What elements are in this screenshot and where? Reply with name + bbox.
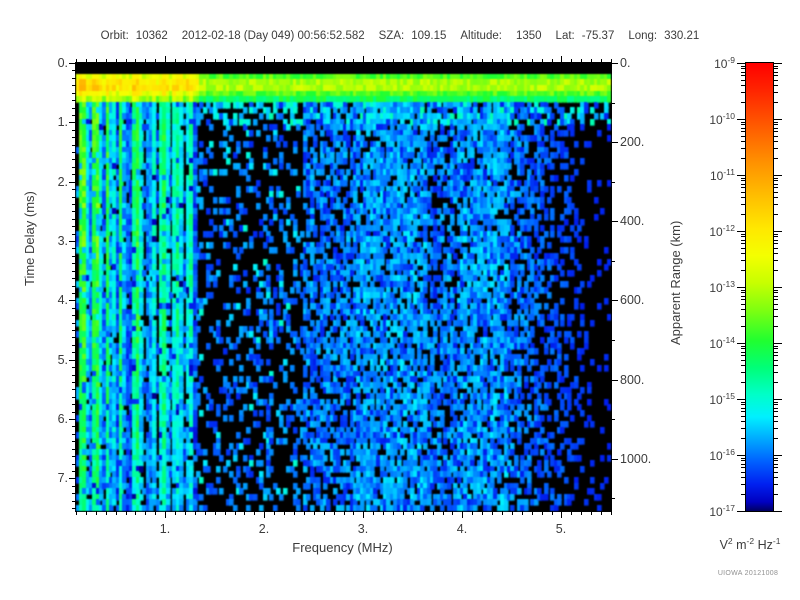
- axis-tick: [443, 511, 444, 515]
- axis-tick: [86, 511, 87, 515]
- altitude-label: Altitude:: [460, 30, 502, 42]
- colorbar-tick: [773, 343, 782, 344]
- colorbar-minor-tick: [741, 477, 746, 478]
- axis-tick: [76, 511, 77, 515]
- colorbar-tick: [773, 175, 782, 176]
- y-axis-title-apparent-range: Apparent Range (km): [668, 221, 683, 345]
- axis-tick: [561, 511, 562, 518]
- colorbar-minor-tick: [741, 66, 746, 67]
- colorbar-tick-exponent: -13: [723, 279, 735, 289]
- colorbar-tick-label: 10-16: [709, 447, 735, 463]
- colorbar-minor-tick: [773, 122, 778, 123]
- axis-tick: [72, 464, 76, 465]
- axis-tick: [72, 159, 76, 160]
- units-hz-exp: -1: [773, 536, 781, 546]
- axis-tick: [72, 434, 76, 435]
- colorbar-tick: [773, 231, 782, 232]
- axis-tick: [72, 471, 76, 472]
- axis-tick-label: 200.: [620, 135, 644, 149]
- colorbar-minor-tick: [741, 360, 746, 361]
- colorbar-minor-tick: [741, 402, 746, 403]
- axis-tick: [155, 511, 156, 515]
- units-m-exp: -2: [747, 536, 755, 546]
- colorbar-minor-tick: [741, 80, 746, 81]
- axis-tick: [72, 137, 76, 138]
- axis-tick: [72, 204, 76, 205]
- axis-tick: [215, 59, 216, 63]
- colorbar-minor-tick: [741, 346, 746, 347]
- axis-tick: [561, 56, 562, 63]
- axis-tick: [72, 219, 76, 220]
- axis-tick-label: 600.: [620, 293, 644, 307]
- colorbar-tick: [773, 455, 782, 456]
- colorbar-tick: [773, 399, 782, 400]
- axis-tick: [72, 382, 76, 383]
- axis-tick: [72, 352, 76, 353]
- axis-tick: [72, 308, 76, 309]
- axis-tick: [482, 59, 483, 63]
- axis-tick: [72, 508, 76, 509]
- axis-tick: [522, 511, 523, 515]
- axis-tick: [304, 511, 305, 515]
- axis-tick: [205, 511, 206, 515]
- axis-tick: [611, 182, 615, 183]
- axis-tick-label: 4.: [58, 293, 68, 307]
- axis-tick: [502, 59, 503, 63]
- axis-tick-label: 2.: [259, 522, 269, 536]
- colorbar-minor-tick: [773, 236, 778, 237]
- axis-tick: [72, 263, 76, 264]
- colorbar-minor-tick: [741, 124, 746, 125]
- colorbar-minor-tick: [741, 416, 746, 417]
- colorbar-minor-tick: [773, 438, 778, 439]
- colorbar-minor-tick: [741, 408, 746, 409]
- colorbar-minor-tick: [773, 124, 778, 125]
- axis-tick: [72, 211, 76, 212]
- axis-tick: [571, 511, 572, 515]
- colorbar-minor-tick: [741, 180, 746, 181]
- colorbar-minor-tick: [773, 467, 778, 468]
- colorbar-minor-tick: [773, 248, 778, 249]
- axis-tick: [72, 337, 76, 338]
- colorbar-minor-tick: [773, 204, 778, 205]
- colorbar-minor-tick: [773, 346, 778, 347]
- colorbar-minor-tick: [773, 458, 778, 459]
- axis-tick: [294, 511, 295, 515]
- colorbar-minor-tick: [741, 458, 746, 459]
- axis-tick: [611, 340, 615, 341]
- colorbar-tick-label: 10-10: [709, 111, 735, 127]
- colorbar: 10-910-1010-1110-1210-1310-1410-1510-161…: [745, 62, 774, 512]
- axis-tick: [72, 85, 76, 86]
- axis-tick: [96, 59, 97, 63]
- axis-tick: [274, 511, 275, 515]
- colorbar-tick-label: 10-13: [709, 279, 735, 295]
- axis-tick-label: 1.: [160, 522, 170, 536]
- axis-tick: [324, 511, 325, 515]
- colorbar-minor-tick: [741, 75, 746, 76]
- axis-tick-label: 3.: [358, 522, 368, 536]
- axis-tick: [304, 59, 305, 63]
- axis-tick: [72, 493, 76, 494]
- colorbar-minor-tick: [773, 421, 778, 422]
- axis-tick: [542, 511, 543, 515]
- axis-tick: [433, 511, 434, 515]
- axis-tick: [72, 412, 76, 413]
- axis-tick: [532, 511, 533, 515]
- colorbar-minor-tick: [741, 260, 746, 261]
- colorbar-tick-label: 10-17: [709, 503, 735, 519]
- colorbar-tick: [737, 175, 746, 176]
- axis-tick: [72, 189, 76, 190]
- axis-tick: [72, 426, 76, 427]
- axis-tick: [135, 511, 136, 515]
- axis-tick: [72, 323, 76, 324]
- colorbar-tick: [773, 63, 782, 64]
- axis-tick: [155, 59, 156, 63]
- axis-tick: [235, 511, 236, 515]
- axis-tick: [72, 167, 76, 168]
- orbit-value: 10362: [136, 30, 168, 42]
- axis-tick: [72, 330, 76, 331]
- axis-tick: [86, 59, 87, 63]
- axis-tick: [462, 56, 463, 63]
- colorbar-minor-tick: [773, 477, 778, 478]
- axis-tick: [532, 59, 533, 63]
- colorbar-minor-tick: [773, 326, 778, 327]
- axis-tick: [334, 59, 335, 63]
- axis-tick: [413, 59, 414, 63]
- colorbar-minor-tick: [741, 204, 746, 205]
- axis-tick: [601, 511, 602, 515]
- axis-tick: [611, 511, 612, 515]
- colorbar-minor-tick: [741, 236, 746, 237]
- observation-datetime: 2012-02-18 (Day 049) 00:56:52.582: [182, 30, 365, 42]
- colorbar-tick: [737, 511, 746, 512]
- colorbar-minor-tick: [741, 304, 746, 305]
- colorbar-minor-tick: [741, 253, 746, 254]
- colorbar-minor-tick: [773, 234, 778, 235]
- colorbar-minor-tick: [741, 92, 746, 93]
- axis-tick: [492, 511, 493, 515]
- colorbar-gradient: [746, 63, 773, 511]
- axis-tick: [72, 256, 76, 257]
- units-m: m: [733, 538, 747, 552]
- colorbar-minor-tick: [773, 178, 778, 179]
- axis-tick: [552, 59, 553, 63]
- axis-tick: [72, 93, 76, 94]
- axis-tick: [72, 278, 76, 279]
- colorbar-minor-tick: [741, 197, 746, 198]
- colorbar-tick-exponent: -17: [723, 503, 735, 513]
- axis-tick: [423, 511, 424, 515]
- colorbar-minor-tick: [773, 148, 778, 149]
- colorbar-minor-tick: [773, 472, 778, 473]
- colorbar-tick-mantissa: 10: [714, 57, 727, 71]
- colorbar-minor-tick: [773, 141, 778, 142]
- axis-tick: [72, 234, 76, 235]
- axis-tick: [452, 511, 453, 515]
- axis-tick: [353, 59, 354, 63]
- colorbar-minor-tick: [773, 260, 778, 261]
- colorbar-minor-tick: [773, 464, 778, 465]
- axis-tick: [69, 300, 76, 301]
- colorbar-tick-mantissa: 10: [709, 113, 722, 127]
- axis-tick: [69, 241, 76, 242]
- colorbar-minor-tick: [741, 494, 746, 495]
- axis-tick: [215, 511, 216, 515]
- axis-tick: [492, 59, 493, 63]
- axis-tick: [72, 315, 76, 316]
- axis-tick: [72, 152, 76, 153]
- colorbar-tick: [737, 63, 746, 64]
- axis-tick: [393, 511, 394, 515]
- colorbar-tick: [773, 511, 782, 512]
- axis-tick: [116, 59, 117, 63]
- axis-tick: [611, 419, 615, 420]
- colorbar-minor-tick: [741, 290, 746, 291]
- axis-tick: [165, 56, 166, 63]
- colorbar-minor-tick: [773, 304, 778, 305]
- colorbar-minor-tick: [741, 184, 746, 185]
- colorbar-tick-exponent: -14: [723, 335, 735, 345]
- units-hz: Hz: [754, 538, 773, 552]
- sza-value: 109.15: [411, 30, 446, 42]
- axis-tick: [72, 501, 76, 502]
- colorbar-minor-tick: [773, 214, 778, 215]
- long-label: Long:: [628, 30, 657, 42]
- axis-tick: [254, 511, 255, 515]
- axis-tick-label: 400.: [620, 214, 644, 228]
- colorbar-tick: [737, 119, 746, 120]
- colorbar-tick-label: 10-15: [709, 391, 735, 407]
- header-metadata-bar: Orbit:103622012-02-18 (Day 049) 00:56:52…: [0, 30, 800, 42]
- colorbar-minor-tick: [741, 240, 746, 241]
- axis-tick: [393, 59, 394, 63]
- axis-tick: [195, 511, 196, 515]
- colorbar-tick-exponent: -16: [723, 447, 735, 457]
- axis-tick: [611, 380, 618, 381]
- colorbar-minor-tick: [773, 192, 778, 193]
- colorbar-minor-tick: [741, 122, 746, 123]
- axis-tick: [72, 486, 76, 487]
- axis-tick: [314, 59, 315, 63]
- colorbar-minor-tick: [741, 158, 746, 159]
- axis-tick: [433, 59, 434, 63]
- axis-tick: [254, 59, 255, 63]
- colorbar-tick-label: 10-14: [709, 335, 735, 351]
- axis-tick: [96, 511, 97, 515]
- axis-tick: [72, 78, 76, 79]
- axis-tick: [314, 511, 315, 515]
- axis-tick: [72, 197, 76, 198]
- axis-tick: [126, 511, 127, 515]
- colorbar-minor-tick: [741, 292, 746, 293]
- colorbar-minor-tick: [773, 309, 778, 310]
- axis-tick: [106, 59, 107, 63]
- colorbar-minor-tick: [741, 404, 746, 405]
- colorbar-minor-tick: [773, 131, 778, 132]
- colorbar-minor-tick: [773, 296, 778, 297]
- colorbar-minor-tick: [773, 348, 778, 349]
- axis-tick: [72, 248, 76, 249]
- colorbar-minor-tick: [741, 270, 746, 271]
- colorbar-tick-label: 10-12: [709, 223, 735, 239]
- axis-tick: [76, 59, 77, 63]
- axis-tick: [72, 293, 76, 294]
- axis-tick: [165, 511, 166, 518]
- axis-tick: [591, 59, 592, 63]
- colorbar-minor-tick: [773, 372, 778, 373]
- axis-tick: [69, 419, 76, 420]
- colorbar-minor-tick: [773, 75, 778, 76]
- colorbar-tick: [737, 231, 746, 232]
- colorbar-minor-tick: [773, 365, 778, 366]
- axis-tick: [175, 511, 176, 515]
- axis-tick: [353, 511, 354, 515]
- axis-tick: [69, 478, 76, 479]
- axis-tick: [274, 59, 275, 63]
- x-axis-title-frequency: Frequency (MHz): [75, 540, 610, 555]
- axis-tick: [611, 498, 615, 499]
- colorbar-tick-mantissa: 10: [709, 337, 722, 351]
- colorbar-minor-tick: [741, 68, 746, 69]
- axis-tick: [472, 511, 473, 515]
- axis-tick: [542, 59, 543, 63]
- axis-tick: [611, 261, 615, 262]
- colorbar-minor-tick: [741, 484, 746, 485]
- axis-tick-label: 3.: [58, 234, 68, 248]
- axis-tick: [373, 511, 374, 515]
- colorbar-minor-tick: [741, 352, 746, 353]
- colorbar-minor-tick: [773, 355, 778, 356]
- ionogram-heatmap-canvas: [76, 63, 611, 511]
- axis-tick: [591, 511, 592, 515]
- axis-tick: [72, 404, 76, 405]
- axis-tick: [571, 59, 572, 63]
- colorbar-minor-tick: [773, 290, 778, 291]
- colorbar-minor-tick: [741, 438, 746, 439]
- axis-tick: [69, 182, 76, 183]
- axis-tick: [72, 145, 76, 146]
- colorbar-tick-mantissa: 10: [709, 505, 722, 519]
- axis-tick: [552, 511, 553, 515]
- axis-tick: [135, 59, 136, 63]
- colorbar-minor-tick: [741, 472, 746, 473]
- colorbar-minor-tick: [741, 187, 746, 188]
- colorbar-minor-tick: [773, 85, 778, 86]
- axis-tick: [72, 108, 76, 109]
- axis-tick: [601, 59, 602, 63]
- long-value: 330.21: [664, 30, 699, 42]
- axis-tick: [145, 59, 146, 63]
- axis-tick-label: 800.: [620, 373, 644, 387]
- colorbar-minor-tick: [773, 68, 778, 69]
- colorbar-minor-tick: [773, 484, 778, 485]
- axis-tick: [72, 375, 76, 376]
- colorbar-minor-tick: [773, 102, 778, 103]
- altitude-value: 1350: [516, 30, 542, 42]
- colorbar-minor-tick: [773, 184, 778, 185]
- axis-tick: [334, 511, 335, 515]
- colorbar-minor-tick: [773, 382, 778, 383]
- colorbar-minor-tick: [741, 148, 746, 149]
- colorbar-minor-tick: [741, 355, 746, 356]
- axis-tick: [512, 59, 513, 63]
- colorbar-minor-tick: [773, 92, 778, 93]
- colorbar-tick-exponent: -11: [723, 167, 735, 177]
- axis-tick: [225, 59, 226, 63]
- colorbar-minor-tick: [741, 411, 746, 412]
- axis-tick: [145, 511, 146, 515]
- axis-tick: [344, 511, 345, 515]
- axis-tick: [72, 389, 76, 390]
- axis-tick-label: 6.: [58, 412, 68, 426]
- axis-tick: [522, 59, 523, 63]
- axis-tick: [185, 59, 186, 63]
- axis-tick-label: 0.: [620, 56, 630, 70]
- axis-tick: [72, 226, 76, 227]
- colorbar-minor-tick: [773, 158, 778, 159]
- axis-tick: [611, 459, 618, 460]
- axis-tick: [106, 511, 107, 515]
- colorbar-tick-label: 10-11: [710, 167, 735, 183]
- colorbar-tick-exponent: -15: [723, 391, 735, 401]
- axis-tick: [72, 345, 76, 346]
- colorbar-minor-tick: [773, 136, 778, 137]
- axis-tick-label: 4.: [457, 522, 467, 536]
- colorbar-minor-tick: [741, 365, 746, 366]
- axis-tick: [264, 511, 265, 518]
- colorbar-minor-tick: [773, 416, 778, 417]
- axis-tick-label: 7.: [58, 471, 68, 485]
- axis-tick-label: 5.: [58, 353, 68, 367]
- colorbar-minor-tick: [741, 214, 746, 215]
- axis-tick: [294, 59, 295, 63]
- axis-tick: [72, 174, 76, 175]
- lat-label: Lat:: [556, 30, 575, 42]
- colorbar-tick: [737, 455, 746, 456]
- axis-tick: [72, 441, 76, 442]
- colorbar-minor-tick: [773, 408, 778, 409]
- axis-tick: [116, 511, 117, 515]
- colorbar-minor-tick: [741, 85, 746, 86]
- axis-tick: [482, 511, 483, 515]
- axis-tick: [72, 70, 76, 71]
- axis-tick: [69, 63, 76, 64]
- axis-tick: [611, 103, 615, 104]
- colorbar-tick: [737, 343, 746, 344]
- axis-tick-label: 1.: [58, 115, 68, 129]
- colorbar-tick-exponent: -10: [723, 111, 735, 121]
- axis-tick: [344, 59, 345, 63]
- colorbar-tick: [773, 287, 782, 288]
- colorbar-minor-tick: [773, 240, 778, 241]
- colorbar-minor-tick: [741, 372, 746, 373]
- axis-tick: [373, 59, 374, 63]
- axis-tick: [443, 59, 444, 63]
- axis-tick: [611, 63, 618, 64]
- colorbar-minor-tick: [773, 428, 778, 429]
- axis-tick: [72, 100, 76, 101]
- colorbar-minor-tick: [773, 72, 778, 73]
- axis-tick: [581, 59, 582, 63]
- colorbar-minor-tick: [773, 352, 778, 353]
- colorbar-minor-tick: [741, 348, 746, 349]
- lat-value: -75.37: [582, 30, 615, 42]
- axis-tick: [284, 511, 285, 515]
- colorbar-minor-tick: [741, 141, 746, 142]
